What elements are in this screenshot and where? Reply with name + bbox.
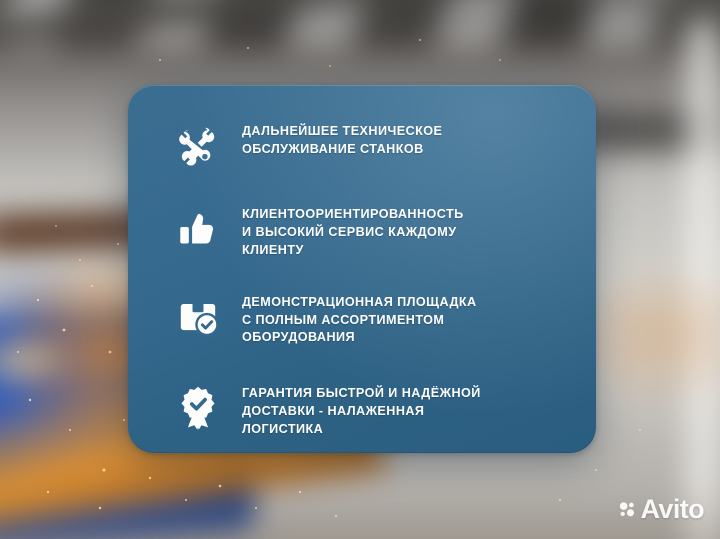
feature-item-delivery-guarantee: ГАРАНТИЯ БЫСТРОЙ И НАДЁЖНОЙ ДОСТАВКИ - Н… — [174, 383, 566, 439]
features-card: ДАЛЬНЕЙШЕЕ ТЕХНИЧЕСКОЕ ОБСЛУЖИВАНИЕ СТАН… — [128, 85, 596, 453]
avito-wordmark: Avito — [641, 496, 705, 523]
feature-item-label: ДЕМОНСТРАЦИОННАЯ ПЛОЩАДКА С ПОЛНЫМ АССОР… — [242, 292, 477, 348]
promo-image: ДАЛЬНЕЙШЕЕ ТЕХНИЧЕСКОЕ ОБСЛУЖИВАНИЕ СТАН… — [0, 0, 720, 539]
feature-item-customer-focus: КЛИЕНТООРИЕНТИРОВАННОСТЬ И ВЫСОКИЙ СЕРВИ… — [174, 204, 566, 260]
feature-item-label: КЛИЕНТООРИЕНТИРОВАННОСТЬ И ВЫСОКИЙ СЕРВИ… — [242, 204, 464, 260]
thumbs-up-icon — [174, 205, 222, 253]
feature-item-label: ДАЛЬНЕЙШЕЕ ТЕХНИЧЕСКОЕ ОБСЛУЖИВАНИЕ СТАН… — [242, 121, 442, 159]
background-floor — [0, 489, 720, 539]
package-check-icon — [174, 293, 222, 341]
background-hotspot — [0, 330, 76, 390]
feature-item-label: ГАРАНТИЯ БЫСТРОЙ И НАДЁЖНОЙ ДОСТАВКИ - Н… — [242, 383, 481, 439]
avito-dots-icon — [619, 501, 636, 518]
feature-item-maintenance: ДАЛЬНЕЙШЕЕ ТЕХНИЧЕСКОЕ ОБСЛУЖИВАНИЕ СТАН… — [174, 121, 566, 170]
feature-item-demo-site: ДЕМОНСТРАЦИОННАЯ ПЛОЩАДКА С ПОЛНЫМ АССОР… — [174, 292, 566, 348]
award-ribbon-check-icon — [174, 384, 222, 432]
crossed-wrenches-icon — [174, 122, 222, 170]
avito-watermark: Avito — [619, 496, 705, 523]
